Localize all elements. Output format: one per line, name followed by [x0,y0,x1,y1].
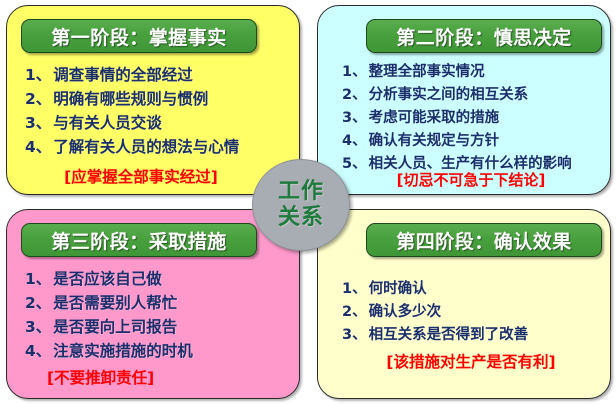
list-item: 3、 与有关人员交谈 [25,111,299,135]
list-item-text: 是否应该自己做 [53,267,162,291]
list-item: 2、 明确有哪些规则与惯例 [25,87,299,111]
list-item-number: 1、 [342,278,367,301]
panel-phase-2: 第二阶段：慎思决定 1、 整理全部事实情况 2、 分析事实之间的相互关系 3、 … [317,5,611,195]
list-item: 3、 相互关系是否得到了改善 [342,324,610,347]
list-item-number: 2、 [342,84,367,107]
panel-phase-4: 第四阶段：确认效果 1、 何时确认 2、 确认多少次 3、 相互关系是否得到了改… [317,209,611,399]
list-item-number: 1、 [25,63,51,87]
list-item: 2、 分析事实之间的相互关系 [342,84,610,107]
center-hub-line-2: 关系 [278,205,324,231]
list-item-text: 与有关人员交谈 [53,111,162,135]
list-item-text: 是否要向上司报告 [53,315,177,339]
panel-header-phase-3: 第三阶段：采取措施 [21,223,257,257]
list-item: 4、 了解有关人员的想法与心情 [25,135,299,159]
list-item-number: 2、 [25,87,51,111]
list-item-number: 1、 [342,61,367,84]
panel-note-phase-4: [该措施对生产是否有利] [318,351,610,373]
panel-header-phase-2: 第二阶段：慎思决定 [366,19,602,53]
panel-list-phase-1: 1、 调查事情的全部经过 2、 明确有哪些规则与惯例 3、 与有关人员交谈 4、… [7,63,299,159]
list-item-number: 4、 [25,135,51,159]
list-item: 2、 是否需要别人帮忙 [25,291,299,315]
list-item-number: 3、 [25,315,51,339]
list-item-text: 了解有关人员的想法与心情 [53,135,239,159]
panel-list-phase-3: 1、 是否应该自己做 2、 是否需要别人帮忙 3、 是否要向上司报告 4、 注意… [7,267,299,363]
list-item: 4、 确认有关规定与方针 [342,130,610,153]
panel-note-phase-3: [不要推卸责任] [47,367,154,389]
list-item: 2、 确认多少次 [342,301,610,324]
list-item-number: 1、 [25,267,51,291]
list-item: 1、 何时确认 [342,278,610,301]
list-item-text: 考虑可能采取的措施 [369,107,500,130]
diagram-canvas: 第一阶段：掌握事实 1、 调查事情的全部经过 2、 明确有哪些规则与惯例 3、 … [0,0,616,404]
list-item-text: 注意实施措施的时机 [53,339,193,363]
list-item-text: 整理全部事实情况 [369,61,485,84]
center-hub-line-1: 工作 [278,179,324,205]
list-item: 3、 是否要向上司报告 [25,315,299,339]
list-item-text: 确认有关规定与方针 [369,130,500,153]
list-item-number: 2、 [25,291,51,315]
list-item-text: 明确有哪些规则与惯例 [53,87,208,111]
list-item: 4、 注意实施措施的时机 [25,339,299,363]
list-item-number: 4、 [342,130,367,153]
list-item-text: 相互关系是否得到了改善 [369,324,529,347]
list-item-number: 2、 [342,301,367,324]
list-item-number: 3、 [342,107,367,130]
panel-note-phase-1: [应掌握全部事实经过] [7,166,299,188]
panel-list-phase-2: 1、 整理全部事实情况 2、 分析事实之间的相互关系 3、 考虑可能采取的措施 … [318,61,610,176]
center-hub-circle: 工作 关系 [252,159,350,251]
list-item: 1、 是否应该自己做 [25,267,299,291]
panel-note-phase-2: [切忌不可急于下结论] [318,169,610,191]
panel-phase-1: 第一阶段：掌握事实 1、 调查事情的全部经过 2、 明确有哪些规则与惯例 3、 … [6,5,300,195]
list-item-text: 调查事情的全部经过 [53,63,193,87]
list-item-text: 是否需要别人帮忙 [53,291,177,315]
panel-header-phase-1: 第一阶段：掌握事实 [21,19,257,53]
panel-header-phase-4: 第四阶段：确认效果 [366,223,602,257]
panel-phase-3: 第三阶段：采取措施 1、 是否应该自己做 2、 是否需要别人帮忙 3、 是否要向… [6,209,300,399]
list-item-text: 分析事实之间的相互关系 [369,84,529,107]
list-item: 3、 考虑可能采取的措施 [342,107,610,130]
list-item-number: 4、 [25,339,51,363]
list-item-number: 3、 [342,324,367,347]
list-item-text: 何时确认 [369,278,427,301]
list-item: 1、 调查事情的全部经过 [25,63,299,87]
panel-list-phase-4: 1、 何时确认 2、 确认多少次 3、 相互关系是否得到了改善 [318,278,610,347]
list-item-text: 确认多少次 [369,301,442,324]
list-item: 1、 整理全部事实情况 [342,61,610,84]
list-item-number: 3、 [25,111,51,135]
